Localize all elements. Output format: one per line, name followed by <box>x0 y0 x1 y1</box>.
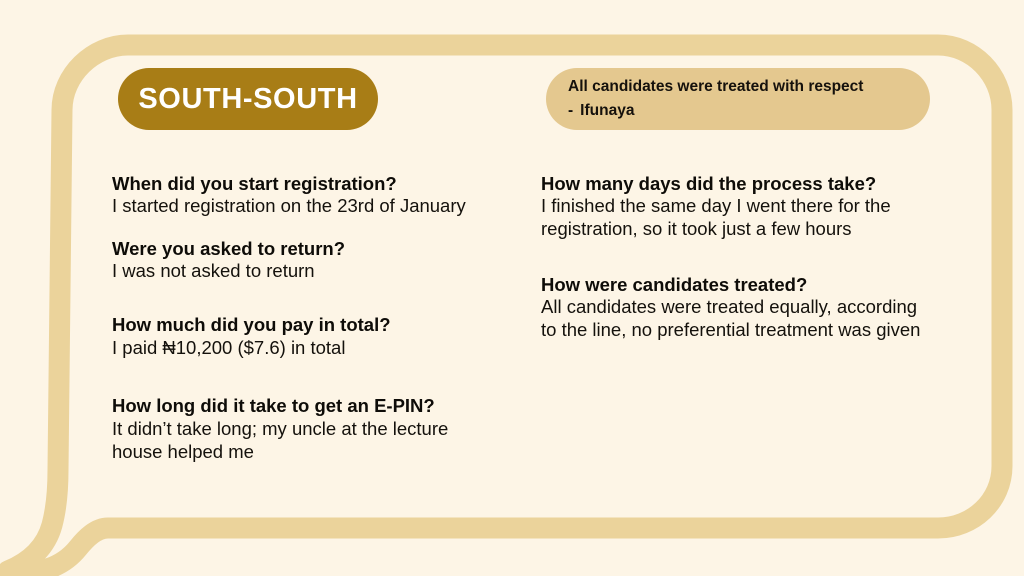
qa-column-left: When did you start registration? I start… <box>112 172 484 463</box>
region-badge: SOUTH-SOUTH <box>118 68 378 130</box>
qa-item: How many days did the process take? I fi… <box>541 172 931 241</box>
slide-content: SOUTH-SOUTH All candidates were treated … <box>0 0 1024 576</box>
qa-answer: I was not asked to return <box>112 260 484 283</box>
qa-question: Were you asked to return? <box>112 237 484 260</box>
qa-question: How many days did the process take? <box>541 172 931 195</box>
quote-attribution-name: Ifunaya <box>580 102 634 119</box>
quote-badge: All candidates were treated with respect… <box>546 68 930 130</box>
qa-question: How much did you pay in total? <box>112 313 484 336</box>
region-badge-label: SOUTH-SOUTH <box>138 83 357 116</box>
qa-answer: I started registration on the 23rd of Ja… <box>112 195 484 218</box>
qa-answer: I paid ₦10,200 ($7.6) in total <box>112 337 484 360</box>
qa-question: When did you start registration? <box>112 172 484 195</box>
qa-item: Were you asked to return? I was not aske… <box>112 237 484 283</box>
qa-item: How were candidates treated? All candida… <box>541 273 931 342</box>
quote-badge-text: All candidates were treated with respect <box>568 79 908 95</box>
qa-answer: I finished the same day I went there for… <box>541 195 931 241</box>
qa-answer: All candidates were treated equally, acc… <box>541 296 931 342</box>
quote-badge-attribution: -Ifunaya <box>568 102 908 120</box>
qa-item: When did you start registration? I start… <box>112 172 484 218</box>
quote-dash: - <box>568 102 573 119</box>
qa-answer: It didn’t take long; my uncle at the lec… <box>112 418 484 464</box>
qa-item: How much did you pay in total? I paid ₦1… <box>112 313 484 359</box>
qa-item: How long did it take to get an E-PIN? It… <box>112 394 484 463</box>
qa-question: How were candidates treated? <box>541 273 931 296</box>
qa-column-right: How many days did the process take? I fi… <box>541 172 931 342</box>
qa-question: How long did it take to get an E-PIN? <box>112 394 484 417</box>
